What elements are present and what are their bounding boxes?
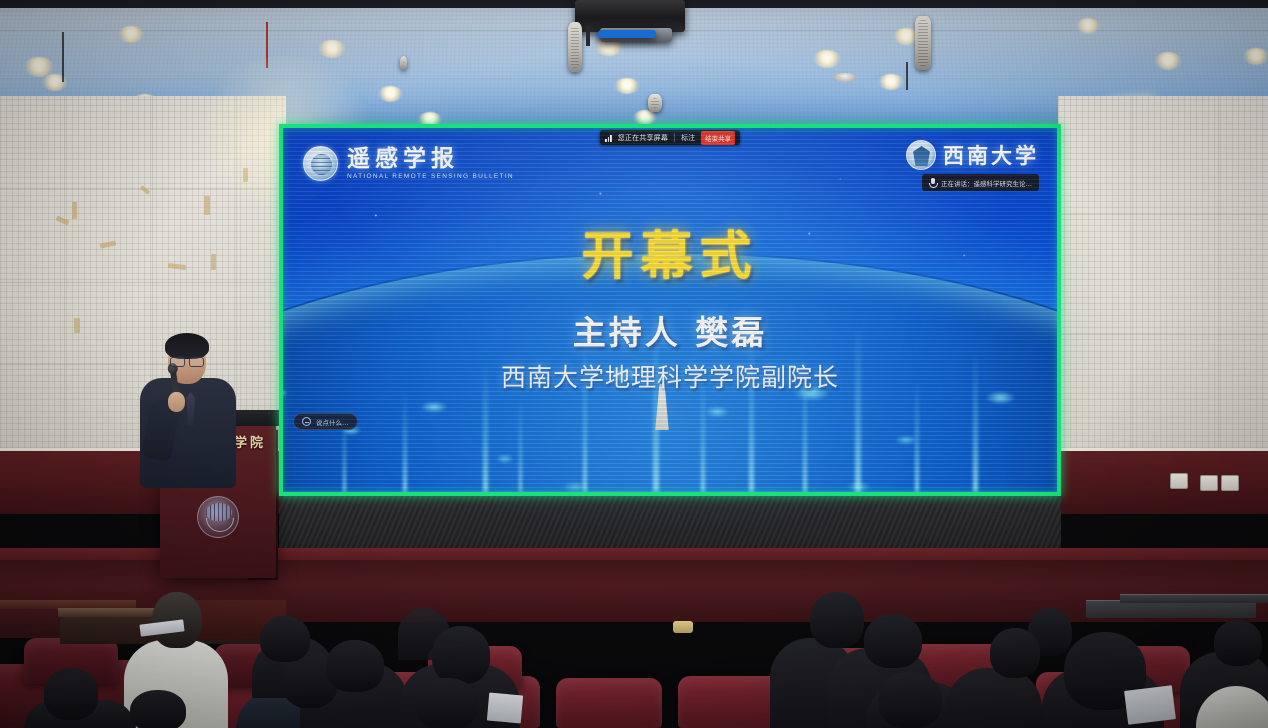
- wall-outlet-plate[interactable]: [1200, 475, 1218, 491]
- downlight: [878, 74, 904, 90]
- wall-panel-seam: [0, 282, 286, 283]
- wall-tape-mark: [100, 240, 117, 248]
- ceiling-cable: [906, 62, 908, 90]
- light-beam: [519, 397, 522, 492]
- auditorium-scene: 遥感学报 NATIONAL REMOTE SENSING BULLETIN 西南…: [0, 0, 1268, 728]
- downlight: [1076, 18, 1100, 34]
- share-status-text: 您正在共享屏幕: [618, 133, 668, 143]
- ceiling-cable: [62, 32, 64, 82]
- wall-panel-seam: [1058, 214, 1268, 215]
- audience-member-head: [878, 672, 942, 728]
- downlight: [813, 50, 841, 68]
- open-notebook: [487, 693, 523, 724]
- screen-share-toolbar[interactable]: 您正在共享屏幕 标注 结束共享: [600, 130, 740, 145]
- audience-member-head: [416, 678, 478, 728]
- stage-object: [673, 621, 693, 633]
- audience-member-head: [810, 592, 864, 648]
- wall-panel-seam: [1218, 96, 1219, 448]
- globe-emblem-icon: [197, 496, 239, 538]
- toolbar-divider: [674, 133, 675, 142]
- wall-panel-seam: [236, 96, 237, 448]
- wall-tape-mark: [168, 263, 186, 270]
- chat-input-pill[interactable]: 说点什么…: [293, 413, 358, 430]
- stage-step: [1120, 594, 1268, 603]
- microphone-icon: [929, 178, 936, 188]
- wall-tape-mark: [72, 202, 77, 219]
- wall-tape-mark: [56, 216, 70, 226]
- ceiling-cable-red: [266, 22, 268, 68]
- journal-logo-text: 遥感学报 NATIONAL REMOTE SENSING BULLETIN: [347, 147, 514, 180]
- audience-member-head: [864, 614, 922, 668]
- university-seal-icon: [906, 140, 936, 170]
- audience-member-head: [260, 616, 310, 662]
- wall-tape-mark: [140, 185, 150, 194]
- university-name-cn: 西南大学: [943, 140, 1039, 170]
- chat-bubble-icon: [302, 417, 311, 426]
- led-screen[interactable]: 遥感学报 NATIONAL REMOTE SENSING BULLETIN 西南…: [279, 124, 1061, 496]
- downlight: [1243, 48, 1268, 65]
- wall-panel-seam: [0, 364, 286, 365]
- presenter-glasses: [170, 356, 204, 364]
- light-beam: [915, 380, 919, 492]
- light-beam: [403, 392, 407, 492]
- wall-tape-mark: [204, 196, 210, 215]
- slide-affiliation: 西南大学地理科学学院副院长: [283, 358, 1057, 394]
- ceiling-sensor: [400, 56, 407, 70]
- downlight: [118, 26, 144, 43]
- right-wainscot: [1058, 448, 1268, 514]
- end-share-button[interactable]: 结束共享: [701, 131, 735, 145]
- ceiling-camera: [648, 94, 662, 112]
- wall-panel-seam: [64, 96, 65, 448]
- wall-tape-mark: [74, 318, 80, 333]
- projector-lens-glow: [598, 30, 656, 38]
- wall-outlet-plate[interactable]: [1170, 473, 1188, 489]
- downlight: [318, 40, 346, 58]
- shared-slide-surface[interactable]: 遥感学报 NATIONAL REMOTE SENSING BULLETIN 西南…: [283, 128, 1057, 492]
- wall-panel-seam: [1058, 334, 1268, 335]
- ceiling-speaker: [568, 22, 582, 72]
- wall-tape-mark: [211, 254, 216, 270]
- ceiling-speaker: [915, 16, 931, 70]
- downlight: [378, 86, 403, 102]
- slide-title: 开幕式: [283, 214, 1057, 289]
- audience-member-head: [432, 626, 490, 684]
- audience-member-head: [130, 690, 186, 728]
- downlight: [633, 110, 657, 125]
- journal-name-en: NATIONAL REMOTE SENSING BULLETIN: [347, 173, 514, 180]
- wall-outlet-plate[interactable]: [1221, 475, 1239, 491]
- wall-panel-seam: [1132, 96, 1133, 448]
- audience-member-head: [44, 668, 98, 720]
- audience-member-head: [990, 628, 1040, 678]
- light-beam: [749, 332, 754, 492]
- projector-mount-arm: [586, 26, 590, 46]
- wall-tape-mark: [243, 168, 248, 182]
- journal-logo: 遥感学报 NATIONAL REMOTE SENSING BULLETIN: [303, 146, 514, 181]
- active-speaker-indicator: 正在讲话：遥感科学研究生论…: [922, 174, 1039, 191]
- right-acoustic-wall: [1058, 96, 1268, 448]
- slide-host-line: 主持人 樊磊: [283, 306, 1057, 354]
- smoke-detector-icon: [834, 73, 856, 82]
- active-speaker-text: 正在讲话：遥感科学研究生论…: [941, 178, 1032, 188]
- audience-member-body: [946, 668, 1042, 728]
- downlight: [42, 74, 68, 91]
- downlight: [1154, 52, 1182, 70]
- signal-bars-icon: [605, 134, 612, 142]
- globe-seal-icon: [303, 146, 338, 181]
- journal-name-cn: 遥感学报: [347, 147, 514, 171]
- annotate-button[interactable]: 标注: [681, 133, 695, 143]
- open-notebook: [1124, 685, 1176, 725]
- chat-placeholder: 说点什么…: [316, 417, 349, 427]
- audience-member-head: [1214, 620, 1262, 666]
- audience-member-head: [326, 640, 384, 692]
- university-logo: 西南大学: [906, 140, 1039, 170]
- seat: [556, 678, 662, 728]
- downlight: [614, 78, 640, 94]
- presenter-hand: [168, 392, 185, 412]
